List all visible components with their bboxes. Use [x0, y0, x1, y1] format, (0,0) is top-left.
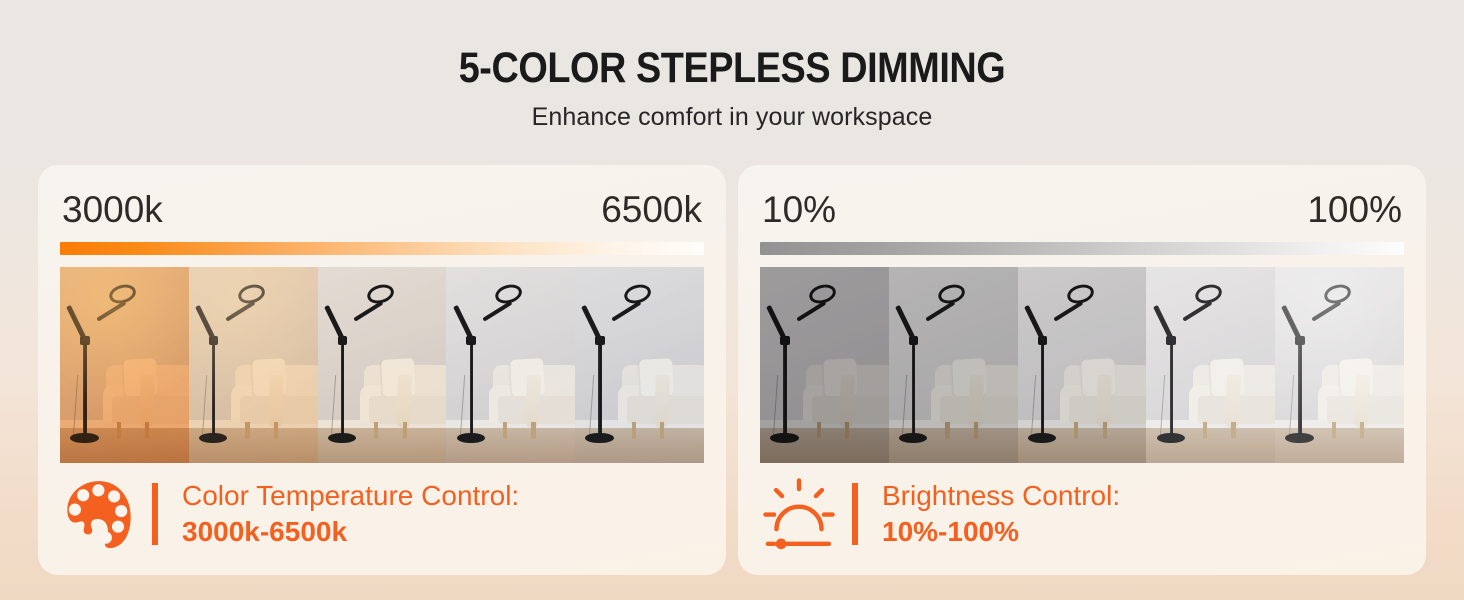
caption-title: Color Temperature Control: — [182, 478, 519, 514]
photo-shot — [1018, 267, 1147, 463]
caption-title: Brightness Control: — [882, 478, 1120, 514]
photo-shot — [446, 267, 575, 463]
panel-container: 3000k 6500k — [38, 165, 1426, 575]
scale-max-label: 6500k — [601, 189, 702, 231]
brightness-panel: 10% 100% — [738, 165, 1426, 575]
page-title: 5-COLOR STEPLESS DIMMING — [88, 46, 1376, 91]
color-temperature-scale: 3000k 6500k — [60, 189, 704, 231]
photo-shot — [760, 267, 889, 463]
color-temperature-gradient-bar — [60, 242, 704, 255]
page-subtitle: Enhance comfort in your workspace — [0, 103, 1464, 132]
brightness-caption: Brightness Control: 10%-100% — [760, 475, 1404, 553]
scale-min-label: 3000k — [62, 189, 163, 231]
photo-shot — [1275, 267, 1404, 463]
brightness-icon — [760, 475, 838, 553]
color-temperature-photo-strip — [60, 267, 704, 463]
scale-max-label: 100% — [1307, 189, 1402, 231]
photo-shot — [60, 267, 189, 463]
photo-shot — [189, 267, 318, 463]
brightness-gradient-bar — [760, 242, 1404, 255]
header: 5-COLOR STEPLESS DIMMING Enhance comfort… — [0, 0, 1464, 132]
photo-shot — [1146, 267, 1275, 463]
brightness-scale: 10% 100% — [760, 189, 1404, 231]
scale-min-label: 10% — [762, 189, 836, 231]
color-temperature-panel: 3000k 6500k — [38, 165, 726, 575]
palette-icon — [60, 475, 138, 553]
caption-value: 3000k-6500k — [182, 514, 519, 550]
caption-divider — [852, 483, 858, 545]
photo-shot — [889, 267, 1018, 463]
infographic-page: 5-COLOR STEPLESS DIMMING Enhance comfort… — [0, 0, 1464, 600]
photo-shot — [318, 267, 447, 463]
caption-value: 10%-100% — [882, 514, 1120, 550]
photo-shot — [575, 267, 704, 463]
color-temperature-caption: Color Temperature Control: 3000k-6500k — [60, 475, 704, 553]
caption-divider — [152, 483, 158, 545]
brightness-photo-strip — [760, 267, 1404, 463]
